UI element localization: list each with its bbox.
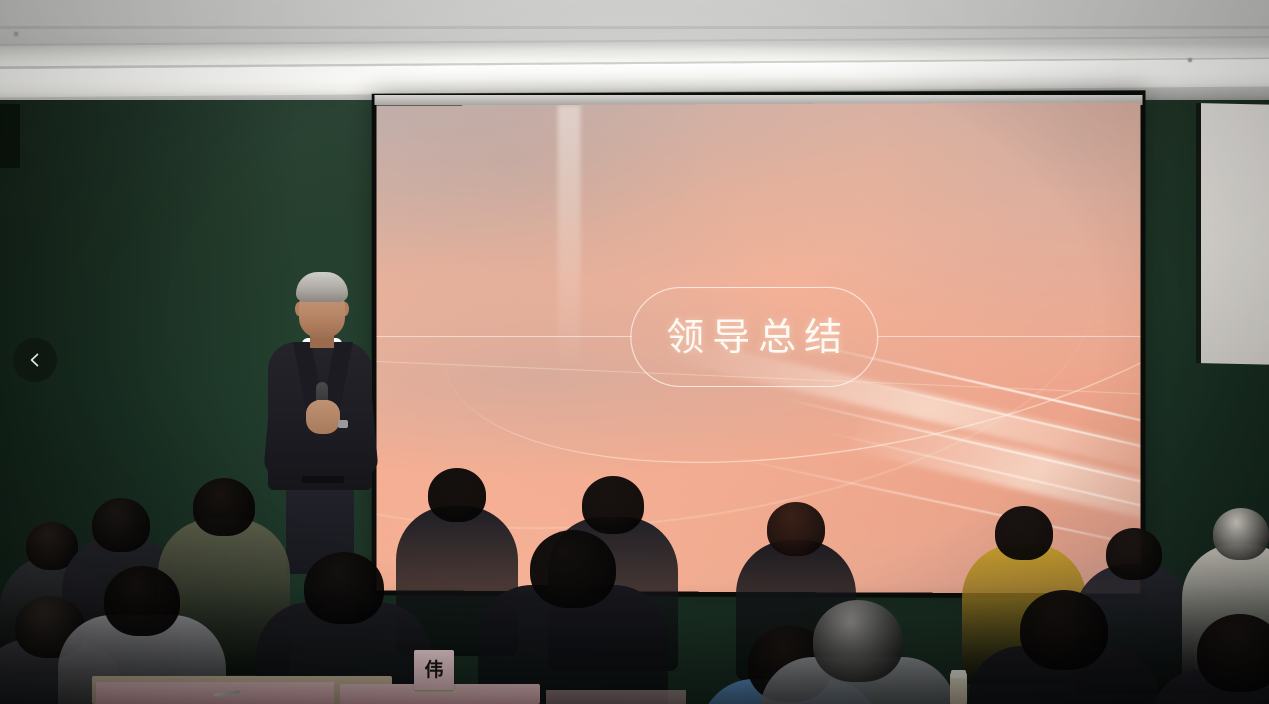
slide-hairline-right [878, 336, 1140, 337]
audience-member [1150, 614, 1269, 704]
audience-head [767, 502, 825, 556]
secondary-whiteboard [1196, 103, 1269, 365]
wall-panel [0, 104, 20, 168]
speaker-belt [302, 476, 344, 483]
ceiling-fixing-screw [14, 32, 18, 36]
speaker-hands [306, 400, 340, 434]
ceiling-fixing-screw [1188, 58, 1192, 62]
audience-head [995, 506, 1053, 560]
slide-title-pill: 领导总结 [630, 287, 878, 387]
slide-title: 领导总结 [658, 318, 850, 356]
prev-photo-button[interactable] [13, 338, 57, 382]
audience-head [1213, 508, 1269, 560]
audience-head [104, 566, 180, 636]
audience-member [760, 600, 956, 704]
audience-head [428, 468, 486, 522]
speaker-hair [296, 272, 348, 302]
bottle-cap [951, 670, 966, 678]
speaker-watch [338, 420, 348, 428]
audience-head [1020, 590, 1108, 670]
audience-head [582, 476, 644, 534]
audience-head [193, 478, 255, 536]
audience-head [1106, 528, 1162, 580]
audience-member [478, 530, 668, 704]
audience-head [813, 600, 903, 682]
ceiling-beam [0, 26, 1269, 29]
photo-viewer: 领导总结 伟 [0, 0, 1269, 704]
audience-member [968, 590, 1160, 704]
table-cloth [546, 690, 686, 704]
slide-hairline-left [377, 336, 633, 337]
placard-name: 伟 [424, 661, 443, 680]
name-placard: 伟 [414, 650, 454, 690]
chevron-left-icon [27, 352, 43, 368]
audience-head [1197, 614, 1269, 692]
audience-head [92, 498, 150, 552]
audience-head [530, 530, 616, 608]
audience-head [304, 552, 384, 624]
